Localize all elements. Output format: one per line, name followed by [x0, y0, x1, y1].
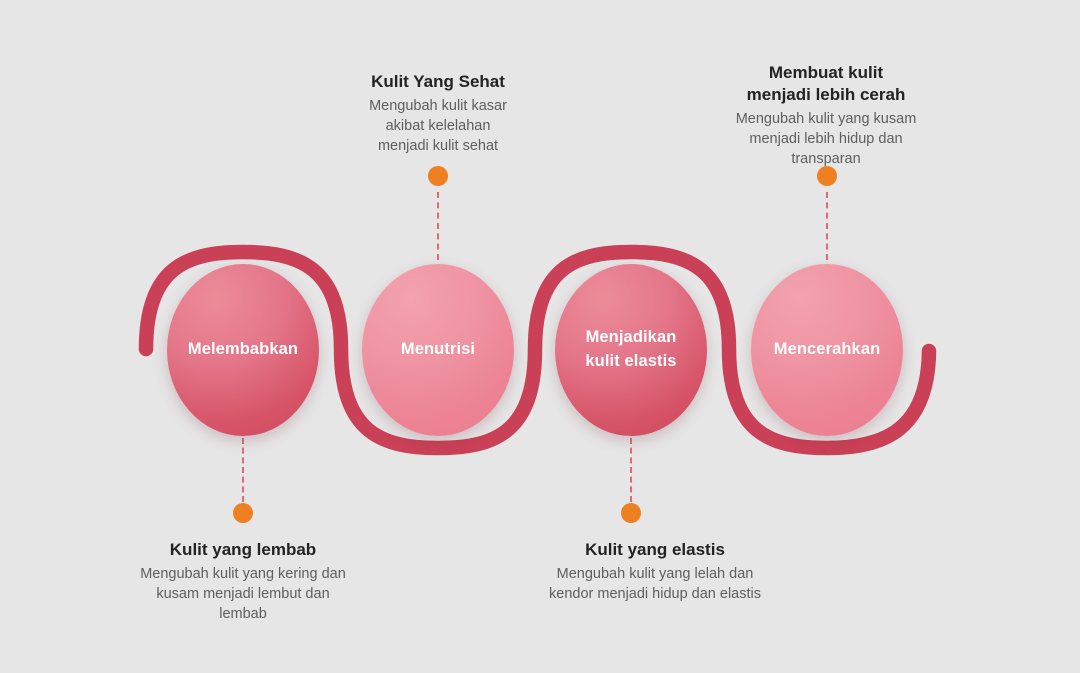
- connector-dot-kulit-yang-sehat: [428, 166, 448, 186]
- callout-kulit-yang-lembab: Kulit yang lembab Mengubah kulit yang ke…: [103, 539, 383, 624]
- callout-body-kulit-yang-elastis: Mengubah kulit yang lelah dan kendor men…: [505, 564, 805, 604]
- node-menutrisi[interactable]: Menutrisi: [362, 264, 514, 436]
- connector-line-membuat-kulit-menjadi-lebih-cerah: [826, 192, 830, 260]
- callout-title-membuat-kulit-menjadi-lebih-cerah: Membuat kulit menjadi lebih cerah: [706, 62, 946, 106]
- connector-line-kulit-yang-lembab: [242, 438, 246, 502]
- connector-line-kulit-yang-elastis: [630, 438, 634, 502]
- callout-title-kulit-yang-elastis: Kulit yang elastis: [505, 539, 805, 561]
- node-mencerahkan[interactable]: Mencerahkan: [751, 264, 903, 436]
- infographic-canvas: Melembabkan Menutrisi Menjadikan kulit e…: [0, 0, 1080, 673]
- callout-title-kulit-yang-sehat: Kulit Yang Sehat: [323, 71, 553, 93]
- connector-dot-kulit-yang-lembab: [233, 503, 253, 523]
- callout-kulit-yang-elastis: Kulit yang elastis Mengubah kulit yang l…: [505, 539, 805, 604]
- node-label-melembabkan: Melembabkan: [178, 338, 308, 362]
- node-label-mencerahkan: Mencerahkan: [764, 338, 891, 362]
- node-label-menutrisi: Menutrisi: [391, 338, 485, 362]
- callout-kulit-yang-sehat: Kulit Yang Sehat Mengubah kulit kasar ak…: [323, 71, 553, 156]
- node-label-menjadikan-kulit-elastis: Menjadikan kulit elastis: [575, 326, 686, 374]
- node-menjadikan-kulit-elastis[interactable]: Menjadikan kulit elastis: [555, 264, 707, 436]
- node-melembabkan[interactable]: Melembabkan: [167, 264, 319, 436]
- connector-dot-kulit-yang-elastis: [621, 503, 641, 523]
- callout-title-kulit-yang-lembab: Kulit yang lembab: [103, 539, 383, 561]
- callout-body-kulit-yang-sehat: Mengubah kulit kasar akibat kelelahan me…: [323, 96, 553, 156]
- callout-body-kulit-yang-lembab: Mengubah kulit yang kering dan kusam men…: [103, 564, 383, 624]
- connector-line-kulit-yang-sehat: [437, 192, 441, 260]
- callout-body-membuat-kulit-menjadi-lebih-cerah: Mengubah kulit yang kusam menjadi lebih …: [706, 109, 946, 169]
- callout-membuat-kulit-menjadi-lebih-cerah: Membuat kulit menjadi lebih cerah Mengub…: [706, 62, 946, 169]
